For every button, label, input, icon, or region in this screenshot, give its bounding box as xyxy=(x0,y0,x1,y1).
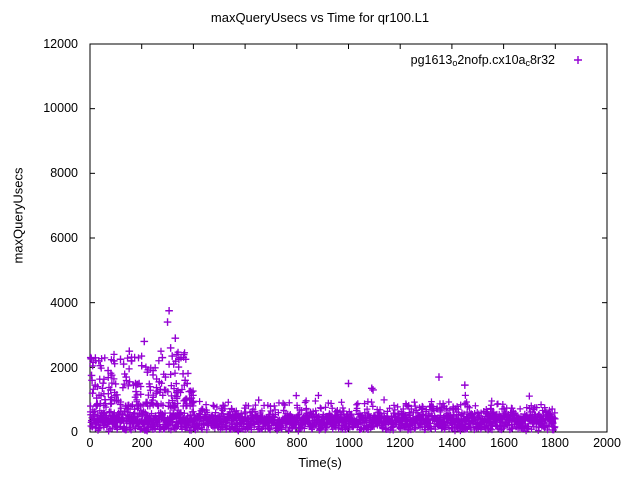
data-point-marker xyxy=(164,318,172,326)
data-point-marker xyxy=(472,402,479,409)
data-point-marker xyxy=(140,338,148,346)
data-point-marker xyxy=(172,334,180,342)
data-point-marker xyxy=(338,399,345,406)
data-point-marker xyxy=(368,399,375,406)
data-point-marker xyxy=(168,352,176,360)
data-point-marker xyxy=(185,370,192,377)
data-point-marker xyxy=(138,362,146,370)
plot-canvas xyxy=(0,0,640,480)
data-point-marker xyxy=(369,386,377,394)
data-point-marker xyxy=(126,365,133,372)
data-point-marker xyxy=(87,355,95,363)
data-point-marker xyxy=(368,385,376,393)
data-point-marker xyxy=(574,56,582,64)
data-point-marker xyxy=(165,307,173,315)
data-point-marker xyxy=(345,380,353,388)
data-point-marker xyxy=(172,370,179,377)
data-point-marker xyxy=(96,376,103,383)
data-point-marker xyxy=(167,344,175,352)
data-point-marker xyxy=(500,401,507,408)
data-point-marker xyxy=(435,373,443,381)
data-point-marker xyxy=(100,380,107,387)
data-point-marker xyxy=(411,399,418,406)
data-point-marker xyxy=(119,384,126,391)
data-point-marker xyxy=(488,398,495,405)
data-point-marker xyxy=(312,398,319,405)
data-point-marker xyxy=(303,397,310,404)
data-point-group xyxy=(87,307,559,435)
data-point-marker xyxy=(461,381,469,389)
data-point-marker xyxy=(157,348,164,355)
data-point-marker xyxy=(255,397,262,404)
data-point-marker xyxy=(166,361,173,368)
data-point-marker xyxy=(196,398,203,405)
data-point-marker xyxy=(302,399,309,406)
legend-marker xyxy=(574,56,582,64)
data-point-marker xyxy=(445,399,452,406)
data-point-marker xyxy=(210,402,217,409)
data-point-marker xyxy=(355,400,362,407)
data-point-marker xyxy=(526,393,533,400)
data-point-marker xyxy=(381,396,388,403)
data-point-marker xyxy=(225,399,232,406)
data-point-marker xyxy=(293,392,300,399)
data-point-marker xyxy=(462,392,469,399)
data-point-marker xyxy=(99,385,107,393)
chart-figure: maxQueryUsecs vs Time for qr100.L1 maxQu… xyxy=(0,0,640,480)
data-point-marker xyxy=(517,406,524,413)
data-point-marker xyxy=(369,403,376,410)
data-point-marker xyxy=(271,403,278,410)
